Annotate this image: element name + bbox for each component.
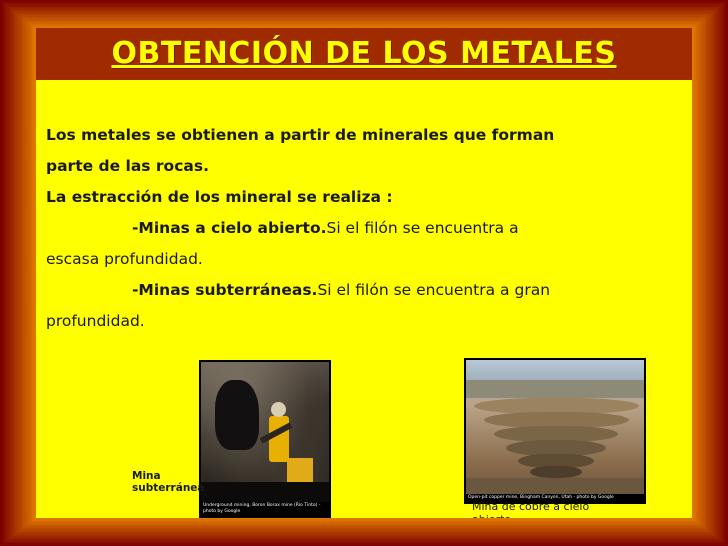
far-hills — [466, 380, 644, 398]
text-line-5: escasa profundidad. — [46, 244, 686, 275]
text-line-6: -Minas subterráneas.Si el filón se encue… — [46, 275, 686, 306]
caption-mina-cobre: Mina de cobre a cielo abierto. — [472, 500, 612, 518]
text-line-4-normal: Si el filón se encuentra a — [326, 219, 518, 237]
text-line-3: La estracción de los mineral se realiza … — [46, 182, 686, 213]
text-line-1: Los metales se obtienen a partir de mine… — [46, 120, 686, 151]
page-title: OBTENCIÓN DE LOS METALES — [36, 36, 692, 71]
pit-bottom — [530, 466, 582, 478]
slide-content-area: OBTENCIÓN DE LOS METALES Los metales se … — [36, 28, 692, 518]
body-text-block: Los metales se obtienen a partir de mine… — [46, 120, 686, 337]
text-line-7-normal: profundidad. — [46, 312, 145, 330]
tunnel-shadow — [215, 380, 259, 450]
text-line-4-bold: -Minas a cielo abierto. — [132, 219, 326, 237]
text-line-2: parte de las rocas. — [46, 151, 686, 182]
text-line-4: -Minas a cielo abierto.Si el filón se en… — [46, 213, 686, 244]
image-mina-subterranea: Underground mining, Boron Borax mine (Ri… — [199, 360, 331, 518]
text-line-5-normal: escasa profundidad. — [46, 250, 203, 268]
miner-helmet — [271, 402, 286, 417]
image-credit-mina-subterranea: Underground mining, Boron Borax mine (Ri… — [201, 502, 329, 516]
text-line-6-bold: -Minas subterráneas. — [132, 281, 317, 299]
text-line-1-bold: Los metales se obtienen a partir de mine… — [46, 126, 554, 144]
text-line-7: profundidad. — [46, 306, 686, 337]
text-line-3-bold: La estracción de los mineral se realiza … — [46, 188, 393, 206]
text-line-6-normal: Si el filón se encuentra a gran — [317, 281, 550, 299]
caption-mina-subterranea: Mina subterránea — [132, 470, 192, 494]
slide-canvas: OBTENCIÓN DE LOS METALES Los metales se … — [0, 0, 728, 546]
floor-shadow — [201, 482, 329, 502]
text-line-2-bold: parte de las rocas. — [46, 157, 209, 175]
image-mina-cobre: Open-pit copper mine, Bingham Canyon, Ut… — [464, 358, 646, 504]
